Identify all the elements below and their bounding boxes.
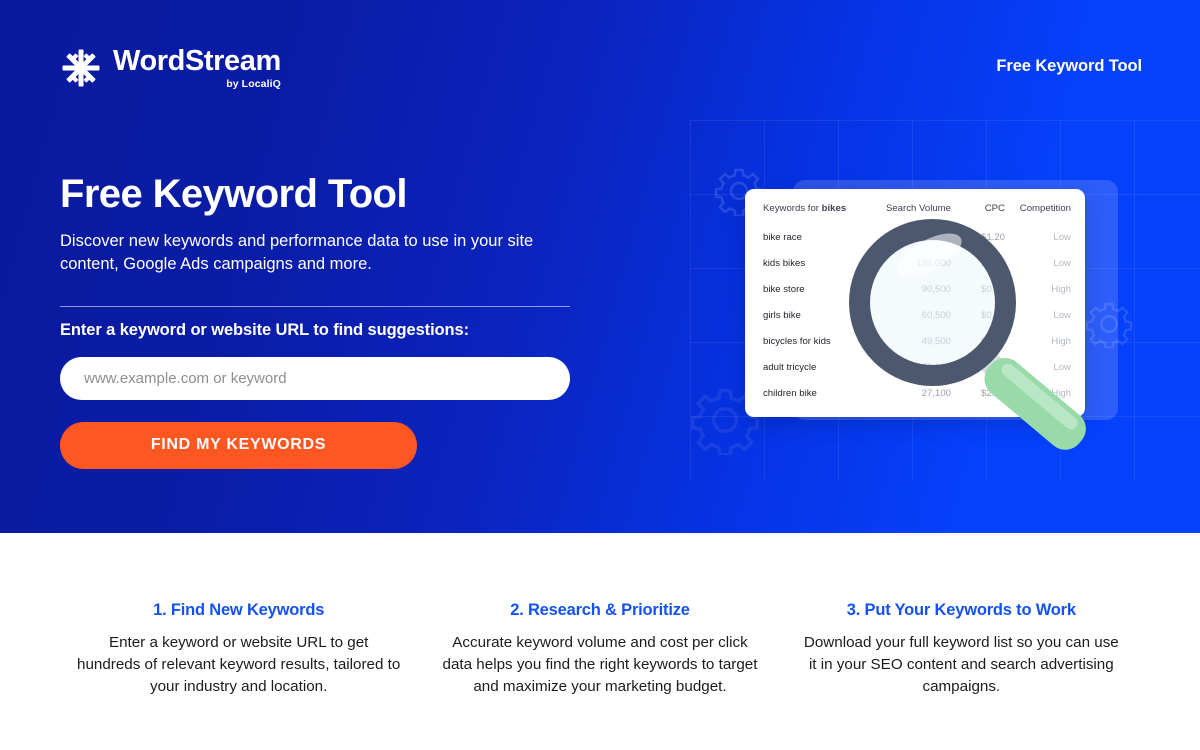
feature-item-1: 1. Find New Keywords Enter a keyword or … [58, 601, 419, 750]
wordstream-snowflake-icon [60, 47, 102, 89]
find-my-keywords-button[interactable]: FIND MY KEYWORDS [60, 422, 417, 469]
search-form-label: Enter a keyword or website URL to find s… [60, 321, 600, 340]
column-header-keyword-term: bikes [822, 203, 847, 214]
feature-title: 1. Find New Keywords [76, 601, 401, 620]
header-product-name-bold: Free [996, 57, 1030, 75]
feature-title: 3. Put Your Keywords to Work [799, 601, 1124, 620]
column-header-keyword-prefix: Keywords for [763, 203, 822, 214]
cell-keyword: kids bikes [745, 250, 867, 276]
cell-keyword: bike race [745, 224, 867, 250]
page-root: WordStream by LocaliQ Free Keyword Tool … [0, 0, 1200, 750]
table-header-row: Keywords for bikes Search Volume CPC Com… [745, 189, 1085, 224]
page-title: Free Keyword Tool [60, 172, 600, 217]
header-product-name-rest: Keyword Tool [1031, 57, 1142, 75]
feature-body: Accurate keyword volume and cost per cli… [437, 632, 762, 698]
keyword-search-input[interactable] [60, 357, 570, 400]
hero-illustration: Keywords for bikes Search Volume CPC Com… [690, 150, 1160, 470]
column-header-keyword: Keywords for bikes [745, 189, 867, 224]
cell-competition: High [1005, 328, 1085, 354]
feature-title: 2. Research & Prioritize [437, 601, 762, 620]
feature-item-3: 3. Put Your Keywords to Work Download yo… [781, 601, 1142, 750]
logo-wordmark: WordStream [113, 47, 281, 76]
cell-competition: High [1005, 276, 1085, 302]
feature-item-2: 2. Research & Prioritize Accurate keywor… [419, 601, 780, 750]
hero-section: WordStream by LocaliQ Free Keyword Tool … [0, 0, 1200, 533]
column-header-cpc: CPC [951, 189, 1005, 224]
brand-logo[interactable]: WordStream by LocaliQ [60, 47, 281, 90]
hero-content: Free Keyword Tool Discover new keywords … [60, 172, 600, 469]
cell-competition: Low [1005, 224, 1085, 250]
cell-keyword: children bike [745, 380, 867, 406]
feature-body: Enter a keyword or website URL to get hu… [76, 632, 401, 698]
cell-competition: Low [1005, 302, 1085, 328]
hero-subtitle: Discover new keywords and performance da… [60, 230, 575, 277]
cell-keyword: adult tricycle [745, 354, 867, 380]
logo-tagline: by LocaliQ [226, 79, 281, 90]
features-section: 1. Find New Keywords Enter a keyword or … [0, 533, 1200, 750]
divider [60, 306, 570, 307]
feature-body: Download your full keyword list so you c… [799, 632, 1124, 698]
header-product-name: Free Keyword Tool [996, 57, 1142, 76]
cell-keyword: bicycles for kids [745, 328, 867, 354]
top-bar: WordStream by LocaliQ Free Keyword Tool [0, 0, 1200, 130]
cell-competition: Low [1005, 250, 1085, 276]
column-header-competition: Competition [1005, 189, 1085, 224]
